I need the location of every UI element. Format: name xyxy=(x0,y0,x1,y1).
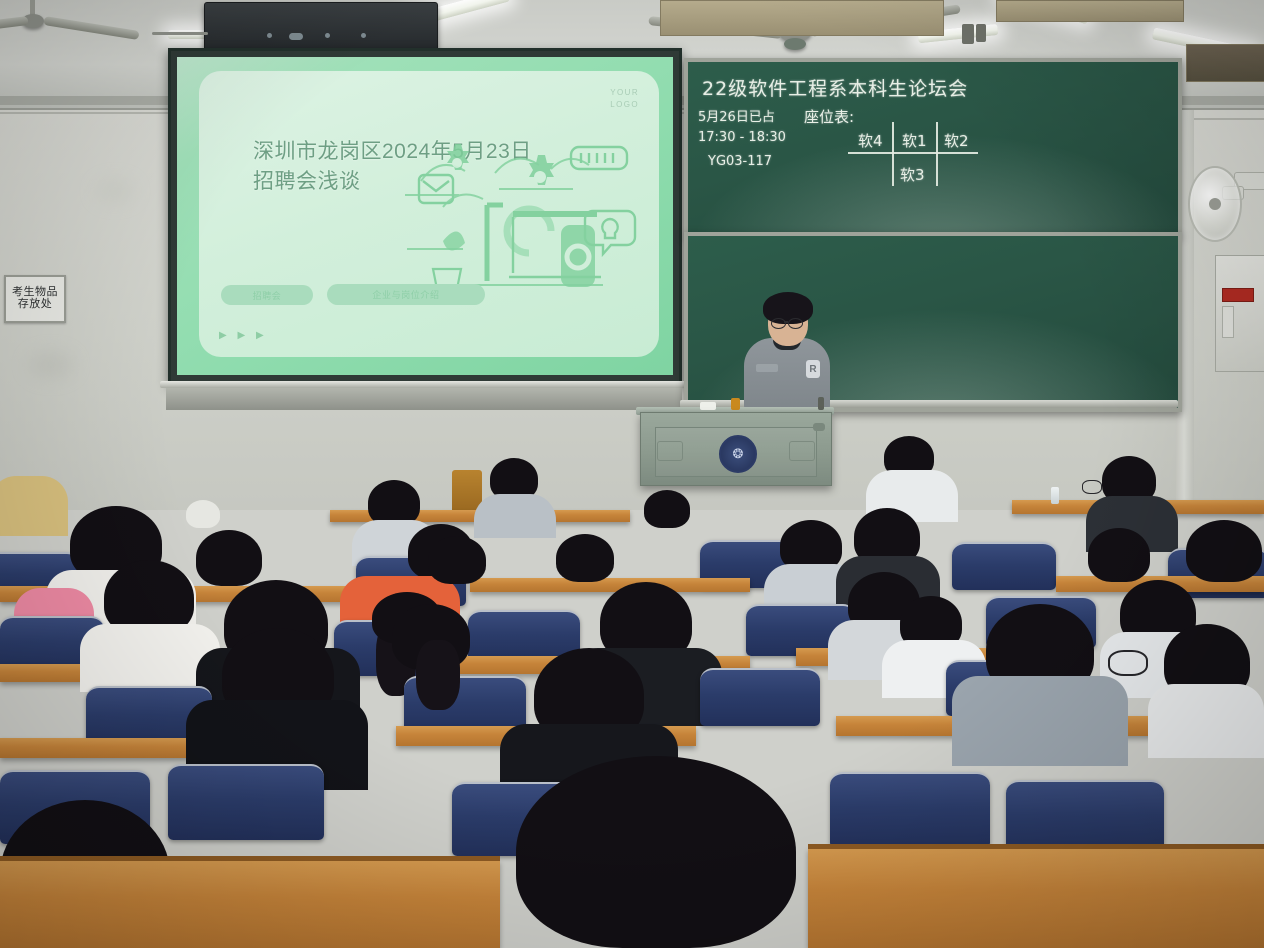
blackboard-seating-label: 座位表: xyxy=(804,106,854,127)
slide-pill-1: 招聘会 xyxy=(221,285,313,305)
audience-head xyxy=(644,490,690,528)
seat-grid-vline xyxy=(936,122,938,186)
ceiling-projector xyxy=(204,2,438,54)
ceiling-fan-motor xyxy=(784,38,806,50)
presenter-glasses-left xyxy=(771,318,786,329)
podium-vent-left xyxy=(657,441,683,461)
exam-belongings-sign: 考生物品 存放处 xyxy=(4,275,66,323)
audience-ponytail xyxy=(416,640,460,710)
slide-illustration xyxy=(403,129,653,304)
audience-head xyxy=(1186,520,1262,582)
audience-head xyxy=(196,530,262,586)
projection-screen: YOUR LOGO 深圳市龙岗区2024年5月23日 招聘会浅谈 xyxy=(168,48,682,384)
podium-vent-right xyxy=(789,441,815,461)
podium-button[interactable] xyxy=(813,423,825,431)
audience-head xyxy=(1088,528,1150,582)
desk-edge xyxy=(808,844,1264,849)
podium-microphone xyxy=(818,397,824,410)
presenter-shirt-emblem: R xyxy=(806,360,820,378)
wall-smudge xyxy=(28,352,74,378)
blackboard-heading: 22级软件工程系本科生论坛会 xyxy=(702,74,968,101)
wall-fan xyxy=(1188,166,1242,242)
audience-torso xyxy=(1148,684,1264,758)
desk-row-front xyxy=(0,860,500,948)
podium: ❂ xyxy=(640,412,832,486)
audience-torso xyxy=(0,476,68,536)
podium-cup xyxy=(731,398,740,410)
presenter-glasses-right xyxy=(788,318,803,329)
light-mount xyxy=(976,24,986,42)
audience-glasses xyxy=(1082,480,1102,494)
seat-back xyxy=(830,772,990,848)
logo-line-2: LOGO xyxy=(610,99,639,111)
cabinet-switch-slot xyxy=(1222,306,1234,338)
seat-cell-top-2: 软1 xyxy=(902,130,927,151)
blackboard-upper: 22级软件工程系本科生论坛会 5月26日已占 17:30 - 18:30 YG0… xyxy=(684,58,1182,236)
seat-cell-bottom: 软3 xyxy=(900,164,925,185)
audience-cap xyxy=(186,500,220,528)
podium-device xyxy=(700,402,716,410)
audience-glasses xyxy=(1108,650,1148,676)
slide-arrows: ▶ ▶ ▶ xyxy=(219,330,268,341)
slide-pill-2: 企业与岗位介绍 xyxy=(327,284,485,305)
blackboard-room: YG03-117 xyxy=(708,154,772,169)
audience-head-foreground xyxy=(516,756,796,948)
audience-torso xyxy=(474,494,556,538)
projector-cable xyxy=(152,32,208,35)
audience-head xyxy=(556,534,614,582)
presenter-hair xyxy=(763,292,813,324)
audience-torso xyxy=(952,676,1128,766)
water-bottle xyxy=(1051,487,1059,504)
cabinet-warning-label xyxy=(1222,288,1254,302)
presenter-shirt-print xyxy=(756,364,778,372)
hanging-board xyxy=(1186,44,1264,82)
screen-lower-housing xyxy=(166,388,682,410)
university-emblem: ❂ xyxy=(719,435,757,473)
seat-back xyxy=(168,764,324,840)
seat-back xyxy=(952,542,1056,590)
screen-surface: YOUR LOGO 深圳市龙岗区2024年5月23日 招聘会浅谈 xyxy=(177,57,673,375)
seat-grid-hline xyxy=(848,152,978,154)
logo-line-1: YOUR xyxy=(610,87,639,99)
lecture-hall-photo: 考生物品 存放处 YOUR LOGO 深圳市龙岗区2024年5月23日 招聘会浅… xyxy=(0,0,1264,948)
seat-back xyxy=(700,668,820,726)
blackboard-time: 17:30 - 18:30 xyxy=(698,130,786,145)
slide-logo-placeholder: YOUR LOGO xyxy=(610,87,639,110)
chalk-tray xyxy=(160,381,688,388)
seat-cell-top-1: 软4 xyxy=(858,130,883,151)
hanging-board xyxy=(996,0,1184,22)
presentation-slide: YOUR LOGO 深圳市龙岗区2024年5月23日 招聘会浅谈 xyxy=(199,71,659,357)
seat-grid-vline xyxy=(892,122,894,186)
audience-head xyxy=(428,536,486,584)
desk-row-2 xyxy=(470,578,750,592)
presenter-glasses-bridge xyxy=(784,321,788,323)
desk-row-front xyxy=(808,848,1264,948)
wall-smudge xyxy=(96,180,134,202)
blackboard-date: 5月26日已占 xyxy=(698,106,775,125)
chalk-haze xyxy=(688,133,1178,232)
desk-edge xyxy=(0,856,500,861)
light-mount xyxy=(962,24,974,44)
sign-line-2: 存放处 xyxy=(18,299,53,311)
hanging-board xyxy=(660,0,944,36)
seat-cell-top-3: 软2 xyxy=(944,130,969,151)
